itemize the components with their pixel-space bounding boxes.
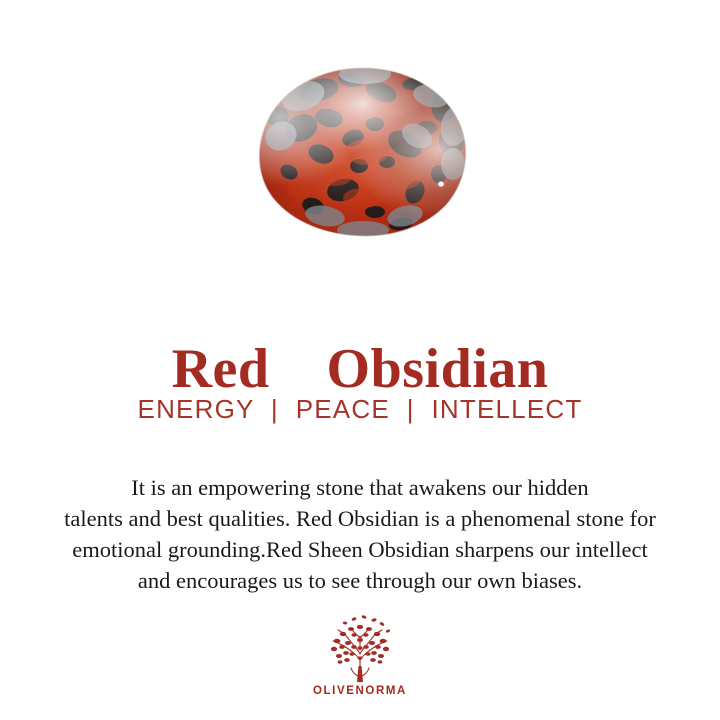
- page-title: Red Obsidian: [0, 338, 720, 400]
- product-info-card: Red Obsidian ENERGY | PEACE | INTELLECT …: [0, 0, 720, 720]
- description-text: It is an empowering stone that awakens o…: [18, 472, 702, 596]
- red-obsidian-illustration: [255, 66, 471, 238]
- stone-image: [255, 66, 471, 238]
- description-line: emotional grounding.Red Sheen Obsidian s…: [18, 534, 702, 565]
- description-line: and encourages us to see through our own…: [18, 565, 702, 596]
- brand-logo: OLIVENORMA: [0, 614, 720, 697]
- keyword-subtitle: ENERGY | PEACE | INTELLECT: [0, 394, 720, 424]
- brand-wordmark: OLIVENORMA: [313, 685, 407, 697]
- tree-of-life-icon: [318, 614, 402, 684]
- tree-trunk: [357, 666, 363, 682]
- description-line: It is an empowering stone that awakens o…: [18, 472, 702, 503]
- specular-highlight: [438, 181, 444, 186]
- description-line: talents and best qualities. Red Obsidian…: [18, 503, 702, 534]
- tree-foliage: [331, 615, 391, 664]
